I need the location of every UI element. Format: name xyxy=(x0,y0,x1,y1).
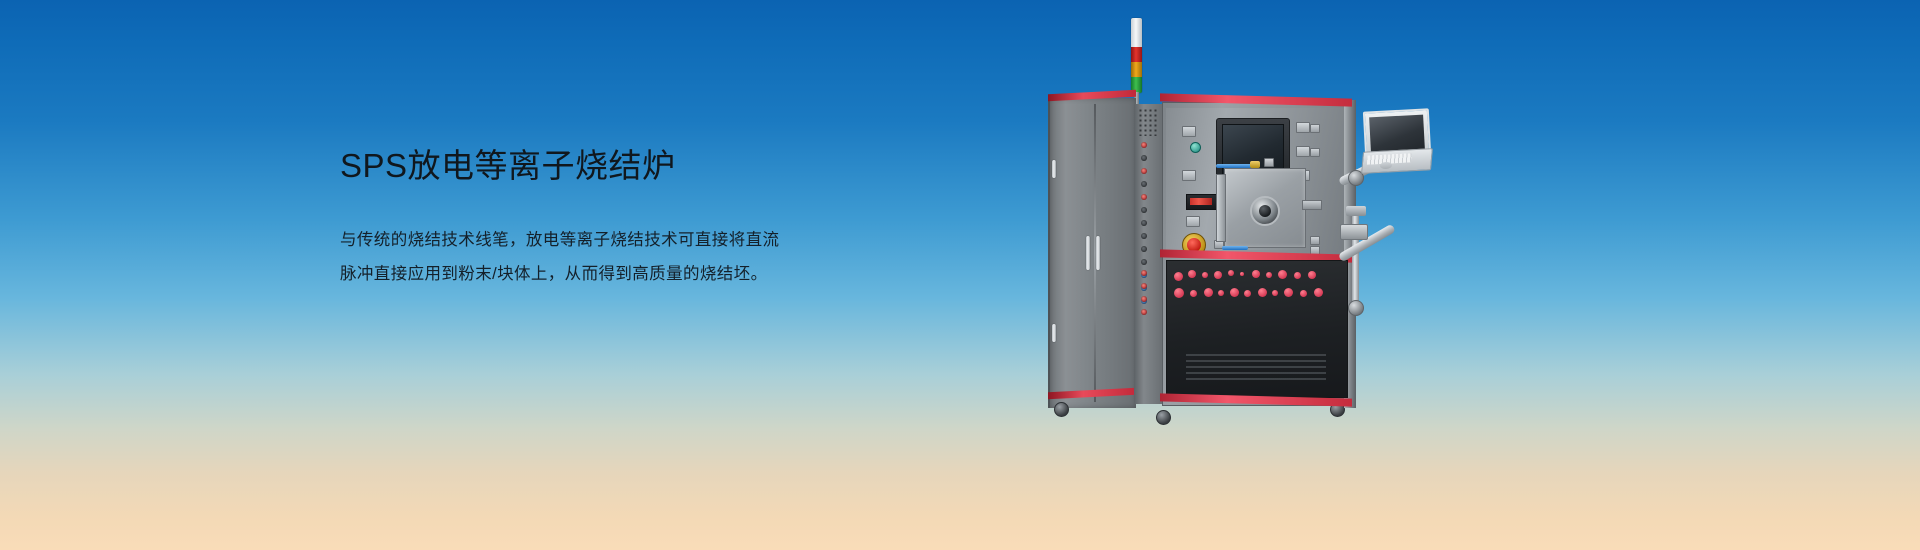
panel-button-small[interactable] xyxy=(1310,236,1320,245)
indicator-lamp xyxy=(1141,283,1147,289)
status-dot xyxy=(1278,270,1287,279)
selector-knob[interactable] xyxy=(1190,142,1201,153)
chamber-latch-handle[interactable] xyxy=(1302,200,1322,210)
indicator-lamp xyxy=(1141,309,1147,315)
panel-button[interactable] xyxy=(1182,126,1196,137)
status-dot xyxy=(1174,288,1184,298)
panel-button-small[interactable] xyxy=(1310,148,1320,157)
panel-button[interactable] xyxy=(1296,146,1310,157)
status-dot xyxy=(1294,272,1301,279)
status-dot xyxy=(1230,288,1239,297)
status-dot xyxy=(1314,288,1323,297)
description-line-1: 与传统的烧结技术线笔，放电等离子烧结技术可直接将直流 xyxy=(340,224,960,258)
indicator-lamp xyxy=(1141,296,1147,302)
tower-light-white-segment xyxy=(1131,18,1142,47)
status-dot xyxy=(1266,272,1272,278)
product-image xyxy=(1010,18,1430,438)
camera-icon xyxy=(1340,224,1368,240)
description-line-2: 脉冲直接应用到粉末/块体上，从而得到高质量的烧结坯。 xyxy=(340,258,960,292)
indicator-lamp xyxy=(1141,168,1147,174)
digital-readout xyxy=(1186,194,1218,210)
indicator-lamp xyxy=(1141,270,1147,276)
status-dot xyxy=(1204,288,1213,297)
status-dot xyxy=(1228,270,1234,276)
monitor-arm-clamp xyxy=(1346,206,1366,216)
status-dot xyxy=(1174,272,1183,281)
tower-light-red-segment xyxy=(1131,47,1142,62)
status-dot xyxy=(1240,272,1244,276)
indicator-lamp xyxy=(1141,142,1147,148)
caster-wheel-rear-left xyxy=(1054,402,1069,417)
indicator-lamp xyxy=(1141,181,1147,187)
indicator-lamp xyxy=(1141,220,1147,226)
panel-button[interactable] xyxy=(1186,216,1200,227)
indicator-lamp xyxy=(1141,233,1147,239)
panel-button-small[interactable] xyxy=(1264,158,1274,167)
banner-description: 与传统的烧结技术线笔，放电等离子烧结技术可直接将直流 脉冲直接应用到粉末/块体上… xyxy=(340,186,960,292)
observation-window xyxy=(1250,196,1280,226)
hero-banner: SPS放电等离子烧结炉 与传统的烧结技术线笔，放电等离子烧结技术可直接将直流 脉… xyxy=(0,0,1920,550)
indicator-lamp xyxy=(1141,259,1147,265)
status-dot xyxy=(1202,272,1208,278)
status-dot xyxy=(1272,290,1278,296)
indicator-lamp xyxy=(1141,246,1147,252)
coolant-pipe-lower xyxy=(1222,246,1248,250)
vent-grille-icon xyxy=(1138,108,1158,136)
indicator-lamp xyxy=(1141,155,1147,161)
arm-joint xyxy=(1348,300,1364,316)
tower-light-amber-segment xyxy=(1131,62,1142,77)
status-dot xyxy=(1188,270,1196,278)
panel-button[interactable] xyxy=(1182,170,1196,181)
laptop-keyboard[interactable] xyxy=(1361,148,1433,174)
indicator-lamp xyxy=(1141,207,1147,213)
status-dot xyxy=(1190,290,1197,297)
status-dot xyxy=(1284,288,1293,297)
cabinet-latch-lower xyxy=(1052,324,1056,342)
status-dot xyxy=(1308,271,1316,279)
cabinet-door-handle-left xyxy=(1086,236,1090,270)
tower-light xyxy=(1131,18,1142,93)
status-dot xyxy=(1300,290,1307,297)
status-dot xyxy=(1214,271,1222,279)
caster-wheel-front-left xyxy=(1156,410,1171,425)
status-dot xyxy=(1218,290,1224,296)
indicator-lamp-column-lower xyxy=(1141,270,1149,322)
panel-button-small[interactable] xyxy=(1310,124,1320,133)
panel-button[interactable] xyxy=(1296,122,1310,133)
banner-text-block: SPS放电等离子烧结炉 与传统的烧结技术线笔，放电等离子烧结技术可直接将直流 脉… xyxy=(340,145,960,292)
cabinet-door-handle-right xyxy=(1096,236,1100,270)
brass-fitting xyxy=(1250,161,1260,168)
cabinet-latch-upper xyxy=(1052,160,1056,178)
rear-cabinet xyxy=(1048,98,1136,408)
ventilation-louvre xyxy=(1186,354,1326,382)
status-dot xyxy=(1252,270,1260,278)
status-dot xyxy=(1258,288,1267,297)
status-dot-array xyxy=(1174,270,1338,304)
status-dot xyxy=(1244,290,1251,297)
indicator-lamp xyxy=(1141,194,1147,200)
chamber-hinge xyxy=(1216,174,1226,242)
page-title: SPS放电等离子烧结炉 xyxy=(340,145,960,186)
